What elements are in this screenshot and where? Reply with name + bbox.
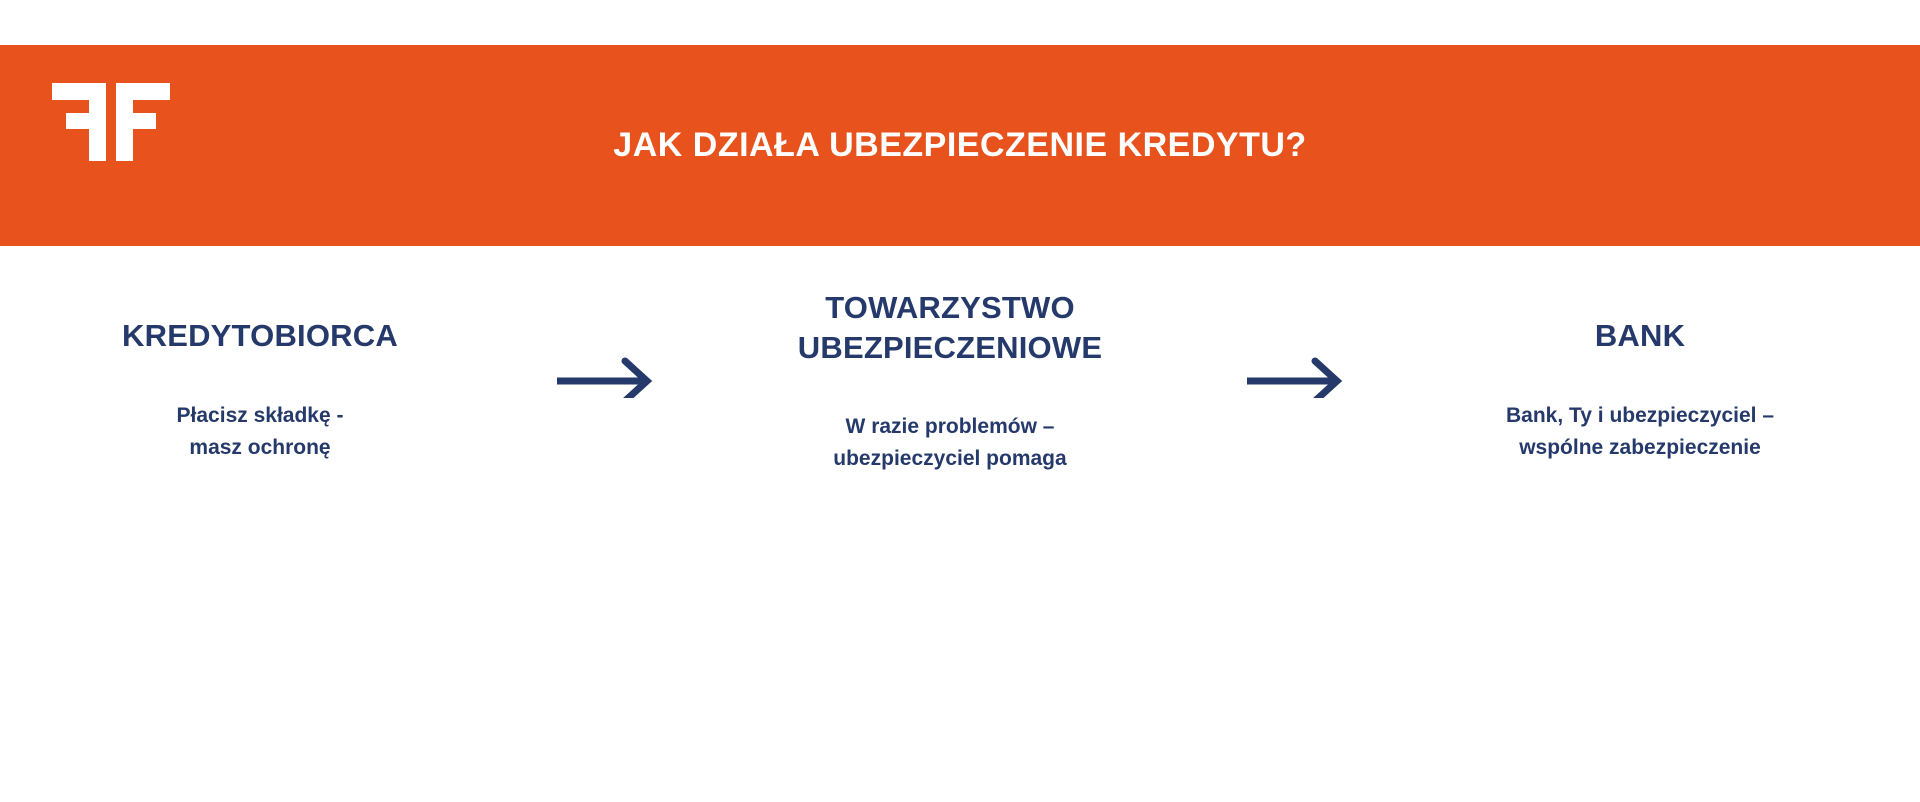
flow-step-bank: BANK Bank, Ty i ubezpieczyciel – wspólne… — [1380, 246, 1900, 463]
flow-step-kredytobiorca: KREDYTOBIORCA Płacisz składkę - masz och… — [0, 246, 520, 463]
arrow-right-icon — [1210, 246, 1380, 398]
process-flow: KREDYTOBIORCA Płacisz składkę - masz och… — [0, 246, 1920, 802]
flow-step-heading: BANK — [1595, 316, 1685, 356]
flow-step-towarzystwo-ubezpieczeniowe: TOWARZYSTWO UBEZPIECZENIOWE W razie prob… — [690, 246, 1210, 475]
flow-step-heading: TOWARZYSTWO UBEZPIECZENIOWE — [798, 288, 1102, 367]
arrow-right-icon — [520, 246, 690, 398]
flow-step-body: W razie problemów – ubezpieczyciel pomag… — [833, 411, 1066, 475]
infographic-page: JAK DZIAŁA UBEZPIECZENIE KREDYTU? KREDYT… — [0, 0, 1920, 802]
page-title: JAK DZIAŁA UBEZPIECZENIE KREDYTU? — [0, 45, 1920, 246]
flow-step-heading: KREDYTOBIORCA — [122, 316, 398, 356]
flow-step-body: Bank, Ty i ubezpieczyciel – wspólne zabe… — [1506, 400, 1774, 464]
flow-step-body: Płacisz składkę - masz ochronę — [177, 400, 344, 464]
